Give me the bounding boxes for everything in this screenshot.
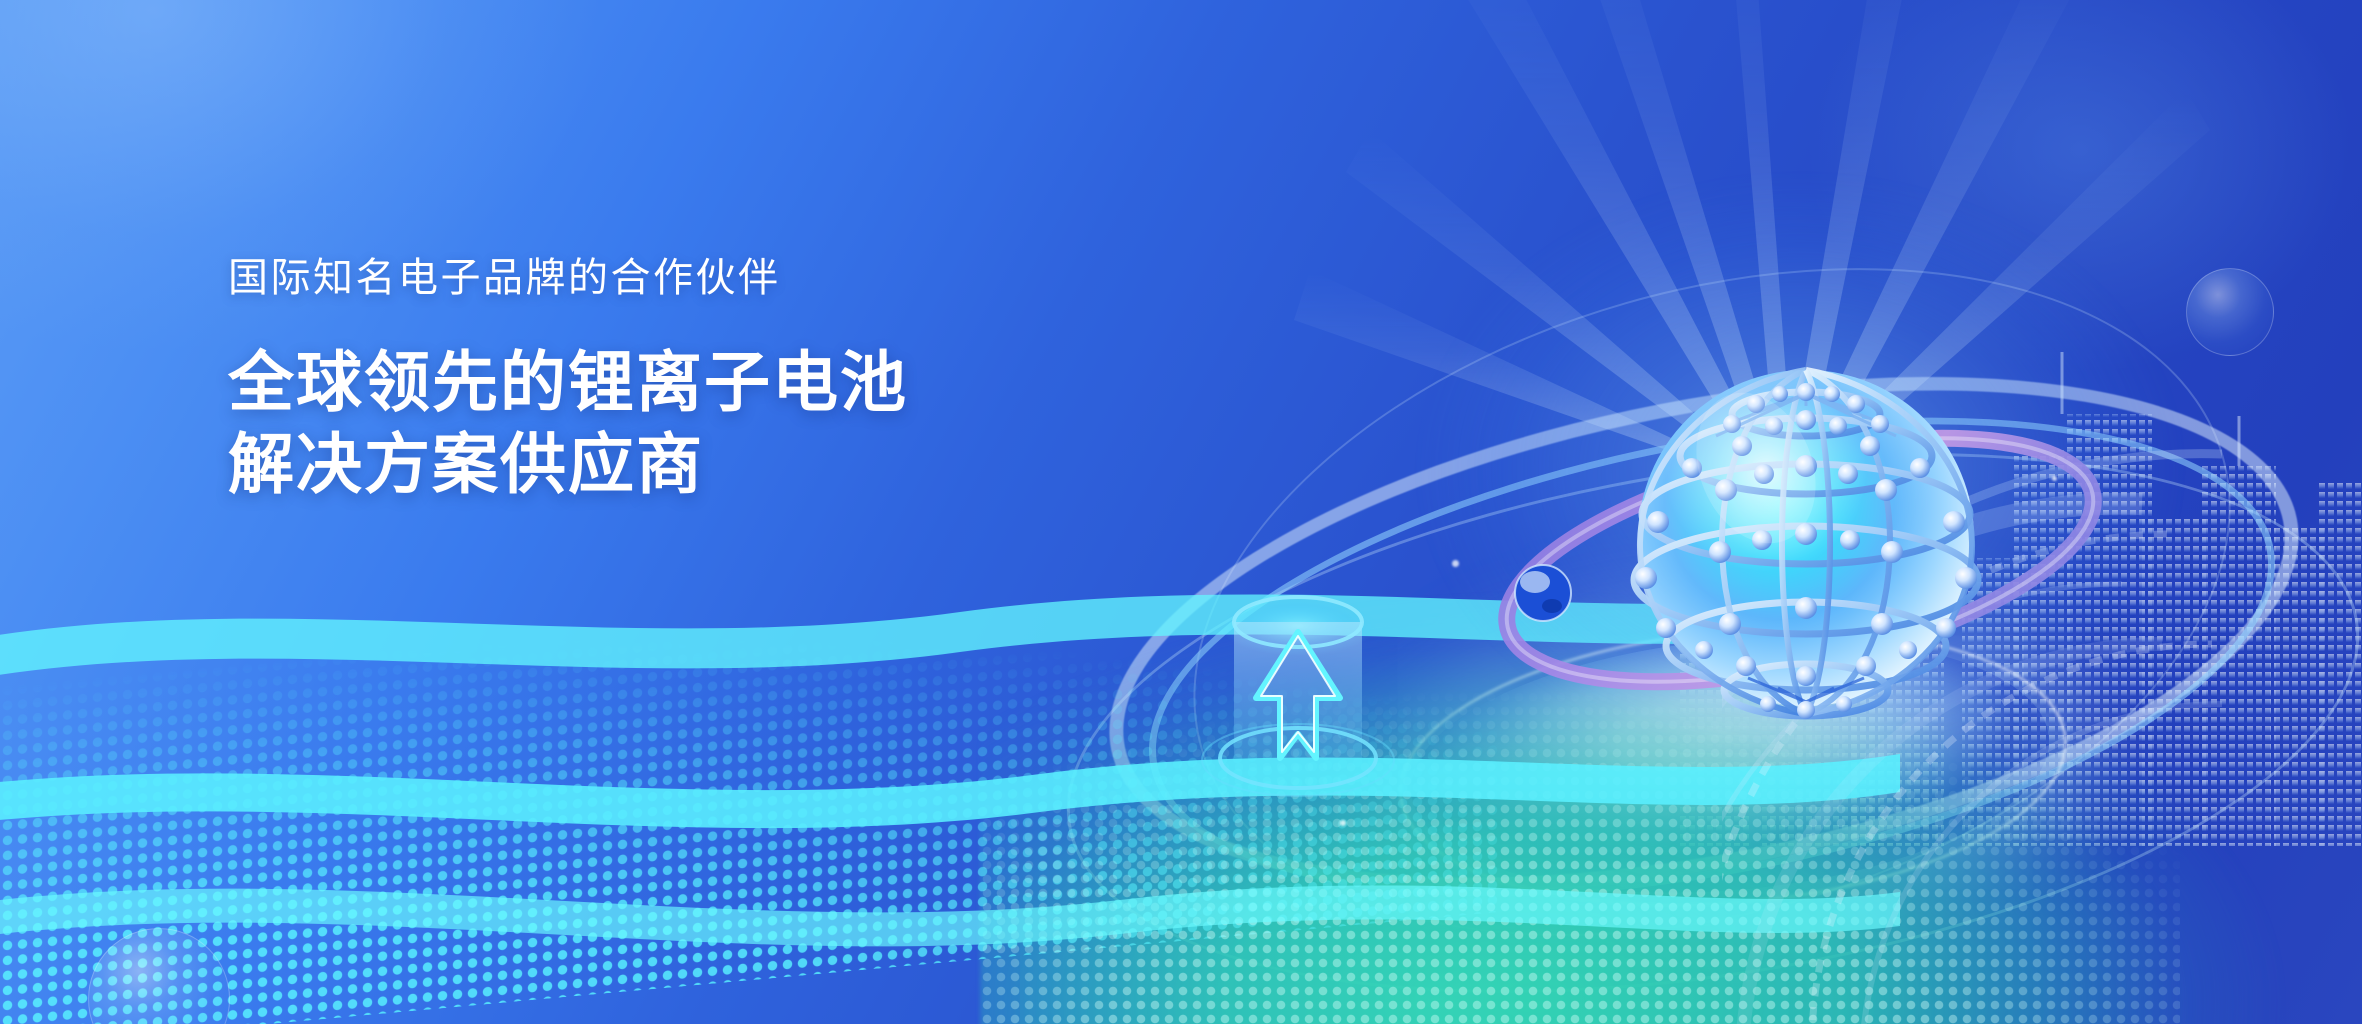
glass-bubble-top-right [2186,268,2274,356]
up-arrow-portal [1198,588,1398,798]
light-bloom-top-right [1700,0,2362,460]
headline-line-2: 解决方案供应商 [228,424,908,506]
pixel-city-skyline [1662,330,2362,850]
orbital-ring-thin [1028,371,2362,1024]
concentric-arc-rings [1722,444,2362,1024]
teal-glow-region [980,504,2300,1024]
globe-light-bloom [1280,100,2280,920]
wireframe-globe [1596,328,2016,748]
orbital-ring-wide [1066,289,2341,979]
teal-glow-edge [1020,544,2120,1024]
headline-line-1: 全球领先的锂离子电池 [228,342,908,424]
cyan-wave-band-mid [0,684,1900,854]
banner-copy: 国际知名电子品牌的合作伙伴 全球领先的锂离子电池 解决方案供应商 [228,258,908,506]
banner-eyebrow: 国际知名电子品牌的合作伙伴 [228,258,908,298]
orbital-ring-outer-faint [1115,155,2310,1024]
cyan-wave-band-upper [0,534,1900,704]
sparkle-glint-3 [1340,820,1346,826]
glass-bubble-bottom-left [88,928,230,1024]
purple-orbital-band [1470,410,2130,710]
orbital-ring-inner [1109,335,2315,979]
banner-headline: 全球领先的锂离子电池 解决方案供应商 [228,342,908,506]
cyan-wave-band-lower [0,814,1900,984]
hero-banner: 国际知名电子品牌的合作伙伴 全球领先的锂离子电池 解决方案供应商 [0,0,2362,1024]
halftone-dot-wave-teal [980,564,2180,1024]
sparkle-glint-2 [2052,476,2057,481]
chrome-node-sphere [1515,565,1571,621]
platform-disc-rim [1387,601,2078,932]
sparkle-glint-1 [1452,560,1459,567]
light-rays [1280,0,2280,760]
glass-platform-disc [1400,613,2059,918]
